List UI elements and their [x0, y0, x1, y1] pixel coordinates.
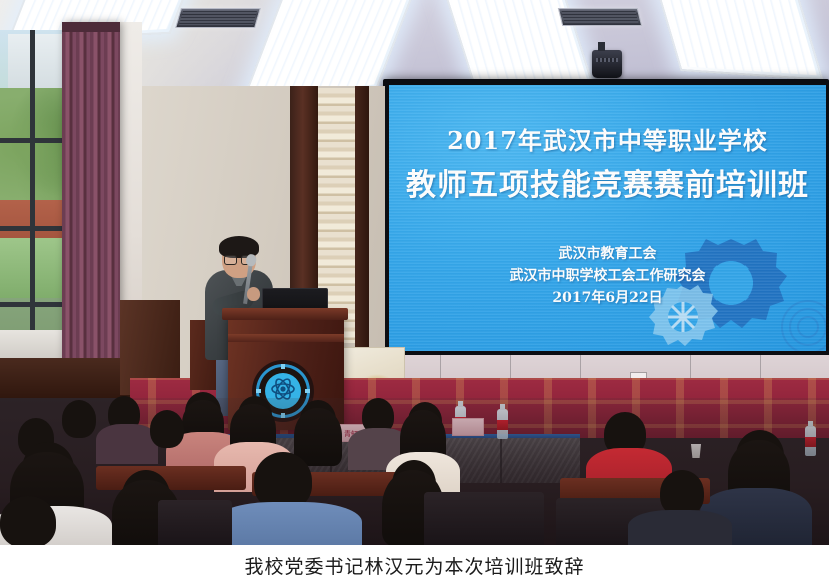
chair-seat — [424, 492, 544, 545]
audience-head — [62, 400, 96, 438]
screen-date-line: 2017年6月22日 — [389, 287, 826, 307]
wood-wainscot — [0, 358, 140, 398]
curtain-rail — [62, 22, 120, 32]
chair-back — [96, 466, 246, 490]
audience-hair — [294, 408, 342, 466]
caption-text: 我校党委书记林汉元为本次培训班致辞 — [244, 552, 584, 579]
screen-title-line1: 2017年武汉市中等职业学校 — [389, 121, 826, 156]
photo-caption: 我校党委书记林汉元为本次培训班致辞 — [0, 545, 829, 586]
audience-head — [150, 410, 184, 448]
screen-surface: 2017年武汉市中等职业学校 教师五项技能竞赛赛前培训班 武汉市教育工会 武汉市… — [389, 85, 826, 351]
chair-seat — [158, 500, 232, 545]
window-curtain — [62, 22, 120, 382]
audience-shoulders — [96, 424, 158, 464]
audience-shoulders — [214, 502, 362, 545]
ceiling-air-vent — [175, 8, 261, 28]
screen-subtitle-line2: 武汉市中职学校工会工作研究会 — [389, 265, 826, 285]
podium-front-lip — [228, 334, 344, 342]
podium-top — [222, 308, 348, 320]
screen-title-line2: 教师五项技能竞赛赛前培训班 — [389, 160, 826, 204]
screenshot-root: 2017年武汉市中等职业学校 教师五项技能竞赛赛前培训班 武汉市教育工会 武汉市… — [0, 0, 829, 586]
ceiling-air-vent — [558, 8, 642, 26]
conference-photo: 2017年武汉市中等职业学校 教师五项技能竞赛赛前培训班 武汉市教育工会 武汉市… — [0, 0, 829, 545]
ceiling-projector — [592, 50, 622, 78]
screen-subtitle-line1: 武汉市教育工会 — [389, 243, 826, 263]
speaker-hand — [247, 287, 260, 301]
led-projection-screen: 2017年武汉市中等职业学校 教师五项技能竞赛赛前培训班 武汉市教育工会 武汉市… — [383, 79, 829, 357]
wood-column — [355, 86, 369, 381]
audience-shoulders — [628, 510, 732, 545]
audience-head — [0, 496, 56, 545]
